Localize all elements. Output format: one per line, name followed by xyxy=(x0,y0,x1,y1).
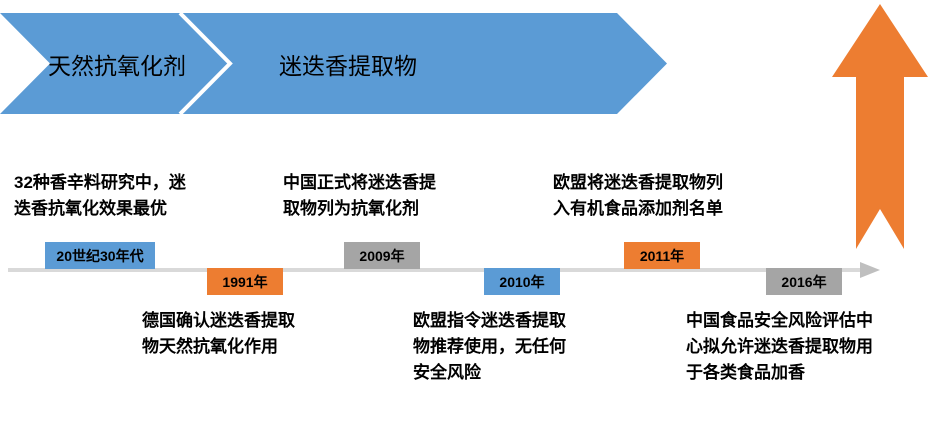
timeline-arrowhead-icon xyxy=(860,262,880,278)
milestone-text-2016: 中国食品安全风险评估中 心拟允许迷迭香提取物用 于各类食品加香 xyxy=(686,308,873,385)
milestone-text-line: 德国确认迷迭香提取 xyxy=(142,308,295,334)
milestone-text-line: 于各类食品加香 xyxy=(686,360,873,386)
milestone-badge-2009[interactable]: 2009年 xyxy=(344,242,420,269)
banner-primary-label: 天然抗氧化剂 xyxy=(48,55,186,78)
milestone-text-line: 迭香抗氧化效果最优 xyxy=(14,196,186,222)
up-arrow-icon xyxy=(832,4,928,249)
header-banner: 天然抗氧化剂 迷迭香提取物 xyxy=(0,13,668,114)
milestone-text-line: 安全风险 xyxy=(413,360,566,386)
milestone-text-line: 32种香辛料研究中，迷 xyxy=(14,170,186,196)
milestone-text-line: 入有机食品添加剂名单 xyxy=(553,196,723,222)
milestone-text-1930s: 32种香辛料研究中，迷 迭香抗氧化效果最优 xyxy=(14,170,186,222)
milestone-text-line: 心拟允许迷迭香提取物用 xyxy=(686,334,873,360)
milestone-text-line: 物天然抗氧化作用 xyxy=(142,334,295,360)
milestone-text-2010: 欧盟指令迷迭香提取 物推荐使用，无任何 安全风险 xyxy=(413,308,566,385)
milestone-text-line: 取物列为抗氧化剂 xyxy=(283,196,436,222)
milestone-text-line: 欧盟指令迷迭香提取 xyxy=(413,308,566,334)
milestone-badge-2010[interactable]: 2010年 xyxy=(484,268,560,295)
milestone-badge-2016[interactable]: 2016年 xyxy=(766,268,842,295)
milestone-text-2011: 欧盟将迷迭香提取物列 入有机食品添加剂名单 xyxy=(553,170,723,222)
banner-secondary-label: 迷迭香提取物 xyxy=(279,55,417,78)
milestone-badge-1930s[interactable]: 20世纪30年代 xyxy=(45,242,155,269)
milestone-badge-1991[interactable]: 1991年 xyxy=(207,268,283,295)
milestone-text-line: 中国食品安全风险评估中 xyxy=(686,308,873,334)
milestone-text-line: 中国正式将迷迭香提 xyxy=(283,170,436,196)
milestone-badge-2011[interactable]: 2011年 xyxy=(624,242,700,269)
milestone-text-line: 物推荐使用，无任何 xyxy=(413,334,566,360)
trend-up-arrow: 呈上升趋势 xyxy=(832,4,928,268)
milestone-text-1991: 德国确认迷迭香提取 物天然抗氧化作用 xyxy=(142,308,295,360)
milestone-text-line: 欧盟将迷迭香提取物列 xyxy=(553,170,723,196)
milestone-text-2009: 中国正式将迷迭香提 取物列为抗氧化剂 xyxy=(283,170,436,222)
